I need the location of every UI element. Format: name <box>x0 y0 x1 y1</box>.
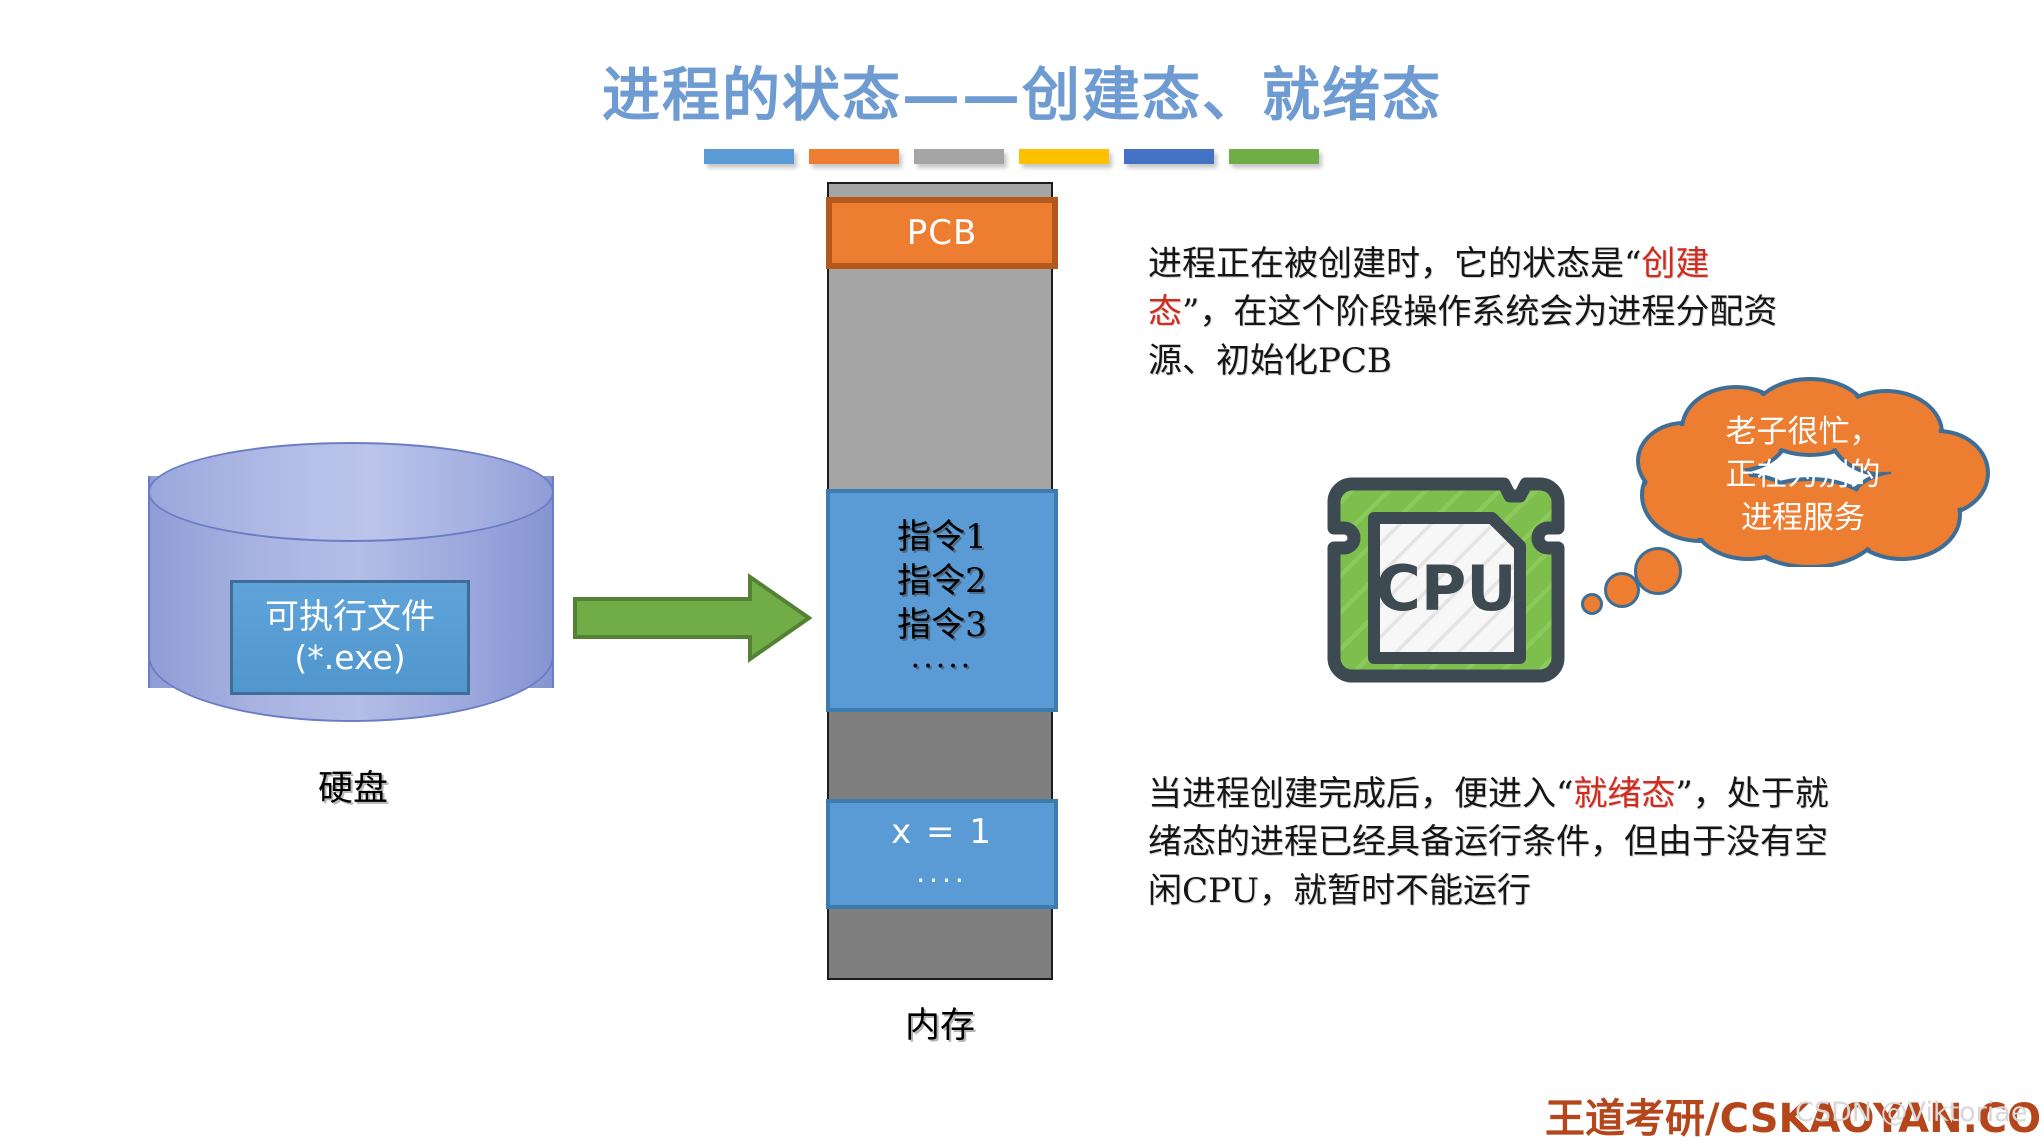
data-ellipsis: ···· <box>916 859 968 902</box>
explanation-create-segment-2: ”，在这个阶段操作系统会为进程分配资源、初始化PCB <box>1148 292 1777 380</box>
executable-file-box: 可执行文件 (*.exe) <box>230 580 470 695</box>
accent-bar-blue <box>704 149 794 164</box>
memory-column: PCB 指令1 指令2 指令3 ····· x = 1 ···· <box>827 182 1053 980</box>
explanation-ready-state: 当进程创建完成后，便进入“就绪态”，处于就绪态的进程已经具备运行条件，但由于没有… <box>1148 770 1848 915</box>
explanation-create-segment-1: 进程正在被创建时，它的状态是“ <box>1148 244 1641 284</box>
instruction-line-1: 指令1 <box>897 515 987 559</box>
instruction-ellipsis: ····· <box>911 647 974 686</box>
cpu-speech-bubble-text: 老子很忙， 正在为别的 进程服务 <box>1664 411 1942 539</box>
accent-bar-row <box>704 149 1319 164</box>
memory-label: 内存 <box>827 997 1053 1048</box>
pcb-label: PCB <box>907 213 978 253</box>
cpu-label: CPU <box>1375 552 1516 625</box>
footer-watermark: CSDN @Viktoriae <box>1795 1097 2027 1128</box>
speech-line-1: 老子很忙， <box>1664 411 1942 454</box>
memory-block-instructions: 指令1 指令2 指令3 ····· <box>826 489 1058 712</box>
accent-bar-orange <box>809 149 899 164</box>
explanation-ready-highlight: 就绪态 <box>1573 774 1675 814</box>
memory-block-data: x = 1 ···· <box>826 799 1058 909</box>
memory-block-pcb: PCB <box>826 197 1058 269</box>
data-variable-value: x = 1 <box>891 806 993 859</box>
speech-line-3: 进程服务 <box>1664 497 1942 540</box>
executable-file-label: 可执行文件 <box>265 597 435 638</box>
disk-cylinder-top <box>148 442 554 542</box>
page-title: 进程的状态——创建态、就绪态 <box>0 48 2044 132</box>
accent-bar-dark-blue <box>1124 149 1214 164</box>
instruction-line-3: 指令3 <box>897 603 987 647</box>
accent-bar-yellow <box>1019 149 1109 164</box>
load-to-memory-arrow <box>572 573 812 663</box>
hard-disk-cylinder: 可执行文件 (*.exe) <box>148 442 558 722</box>
thought-dot-small <box>1581 593 1603 615</box>
accent-bar-green <box>1229 149 1319 164</box>
instruction-line-2: 指令2 <box>897 559 987 603</box>
executable-file-extension: (*.exe) <box>294 638 405 678</box>
accent-bar-gray <box>914 149 1004 164</box>
explanation-ready-segment-1: 当进程创建完成后，便进入“ <box>1148 774 1573 814</box>
speech-line-2: 正在为别的 <box>1664 454 1942 497</box>
explanation-create-state: 进程正在被创建时，它的状态是“创建态”，在这个阶段操作系统会为进程分配资源、初始… <box>1148 240 1788 385</box>
hard-disk-label: 硬盘 <box>148 760 558 811</box>
cpu-icon: CPU <box>1318 448 1574 712</box>
